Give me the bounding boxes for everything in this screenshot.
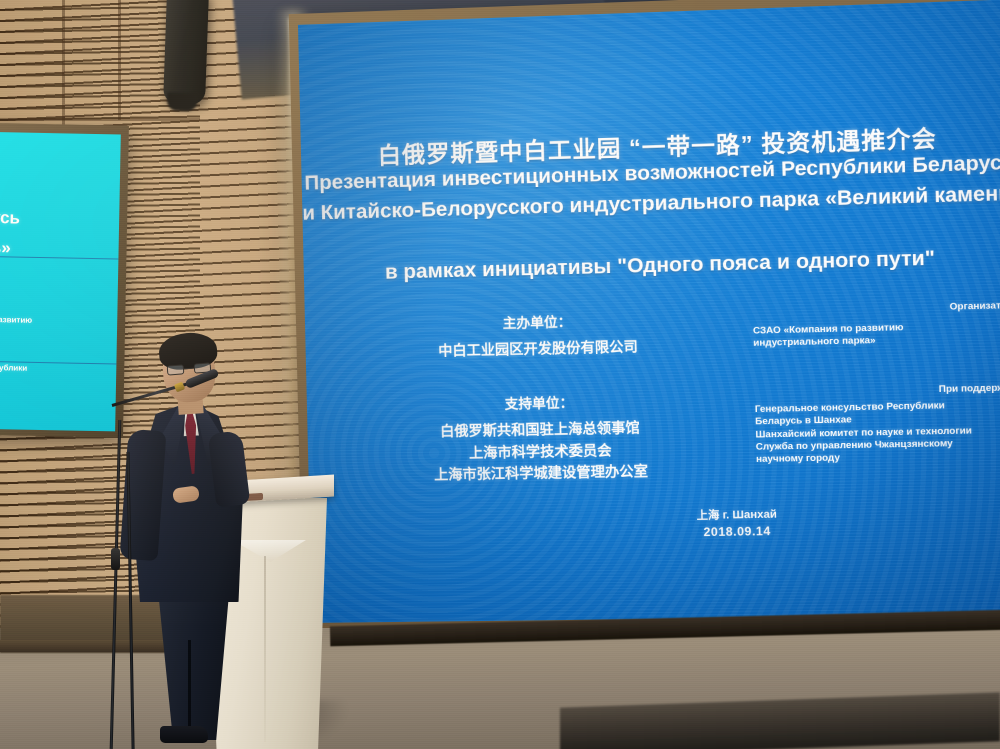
led-screen-frame: 白俄罗斯暨中白工业园 “一带一路” 投资机遇推介会 Презентация ин… [289,0,1000,632]
presenter-shoe [160,726,208,743]
support-label-ru: При поддержке: [754,382,1000,399]
organizer-label-ru: Организатор: [752,300,1000,317]
presentation-slide: 白俄罗斯暨中白工业园 “一带一路” 投资机遇推介会 Презентация ин… [298,0,1000,623]
podium-crease [264,556,266,742]
eyeglasses-bridge [184,368,194,370]
side-divider-1 [0,255,118,259]
slide-title-russian-3: в рамках инициативы "Одного пояса и одно… [304,244,1000,287]
slide-support-block-ru: При поддержке: Генеральное консульство Р… [754,382,1000,467]
slide-footer: 上海 г. Шанхай 2018.09.14 [613,504,862,540]
eyeglasses-lens-left [167,364,185,375]
slide-organizer-block-ru: Организатор: СЗАО «Компания по развитию … [752,300,1000,351]
wall-panel-seam-2 [0,118,200,121]
side-display-screen[interactable]: еларусь камень» развитию Республики техн… [0,131,121,431]
ceiling-speaker-icon [163,0,209,105]
footer-date: 2018.09.14 [613,523,862,541]
slide-organizer-block-cn: 主办单位： 中白工业园区开发股份有限公司 [375,307,702,364]
side-display-frame: еларусь камень» развитию Республики техн… [0,122,129,437]
footer-place: 上海 г. Шанхай [613,504,862,524]
support-label-cn: 支持单位： [377,389,703,416]
side-line-3: развитию [0,315,32,325]
presenter-leg-gap [188,640,191,740]
wall-panel-seam-3 [118,0,121,120]
organizer-label-cn: 主办单位： [375,307,701,335]
organizer-name-cn: 中白工业园区开发股份有限公司 [376,335,702,364]
screenshot-root: еларусь камень» развитию Республики техн… [0,0,1000,749]
side-line-2: камень» [0,237,11,258]
side-line-4: Республики [0,363,27,373]
supporter-cn-2: 上海市张江科学城建设管理办公室 [379,460,705,488]
side-line-1: еларусь [0,207,20,228]
slide-support-block-cn: 支持单位： 白俄罗斯共和国驻上海总领事馆 上海市科学技术委员会 上海市张江科学城… [377,389,705,488]
led-screen-display[interactable]: 白俄罗斯暨中白工业园 “一带一路” 投资机遇推介会 Презентация ин… [298,0,1000,623]
microphone-clutch [111,548,120,570]
